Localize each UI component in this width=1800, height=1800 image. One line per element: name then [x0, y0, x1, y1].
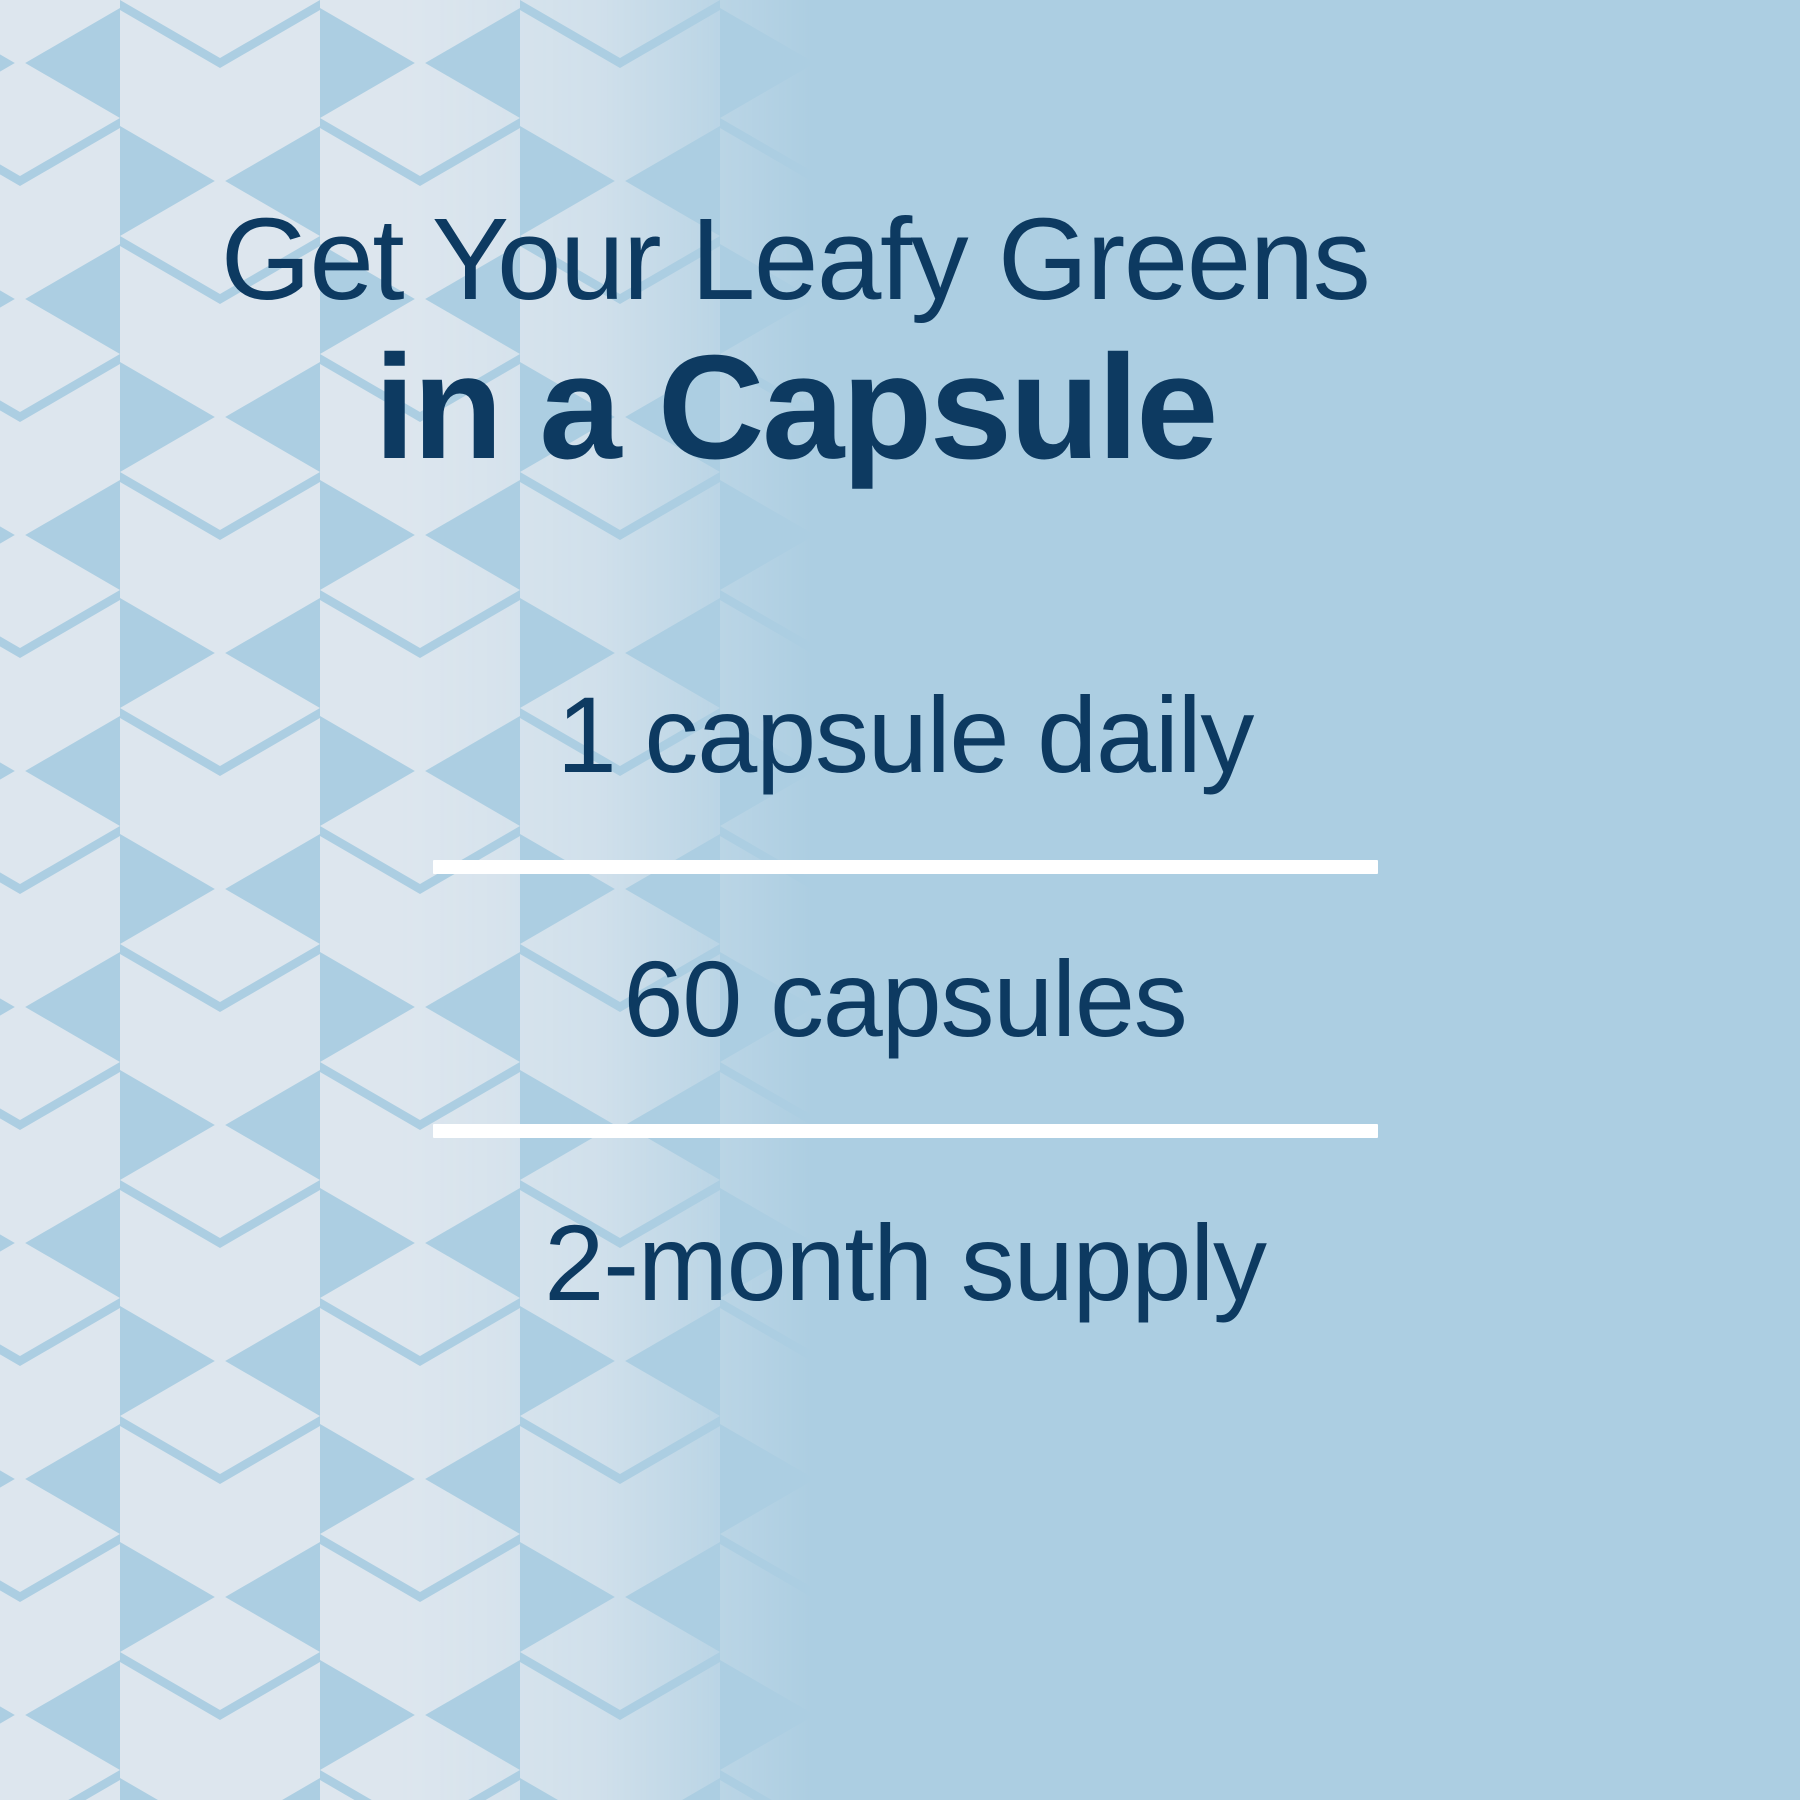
fact-label-dosage: 1 capsule daily: [557, 681, 1253, 789]
fact-item-dosage: 1 capsule daily: [300, 610, 1510, 860]
fact-label-supply: 2-month supply: [544, 1209, 1266, 1317]
headline-line-2: in a Capsule: [0, 333, 1590, 484]
fact-item-count: 60 capsules: [300, 874, 1510, 1124]
fact-divider-1: [433, 860, 1378, 874]
fact-list: 1 capsule daily 60 capsules 2-month supp…: [300, 610, 1510, 1388]
fact-label-count: 60 capsules: [623, 945, 1186, 1053]
headline-line-1: Get Your Leafy Greens: [0, 195, 1590, 325]
fact-divider-2: [433, 1124, 1378, 1138]
product-info-poster: Get Your Leafy Greens in a Capsule 1 cap…: [0, 0, 1800, 1800]
fact-item-supply: 2-month supply: [300, 1138, 1510, 1388]
headline: Get Your Leafy Greens in a Capsule: [0, 195, 1800, 484]
